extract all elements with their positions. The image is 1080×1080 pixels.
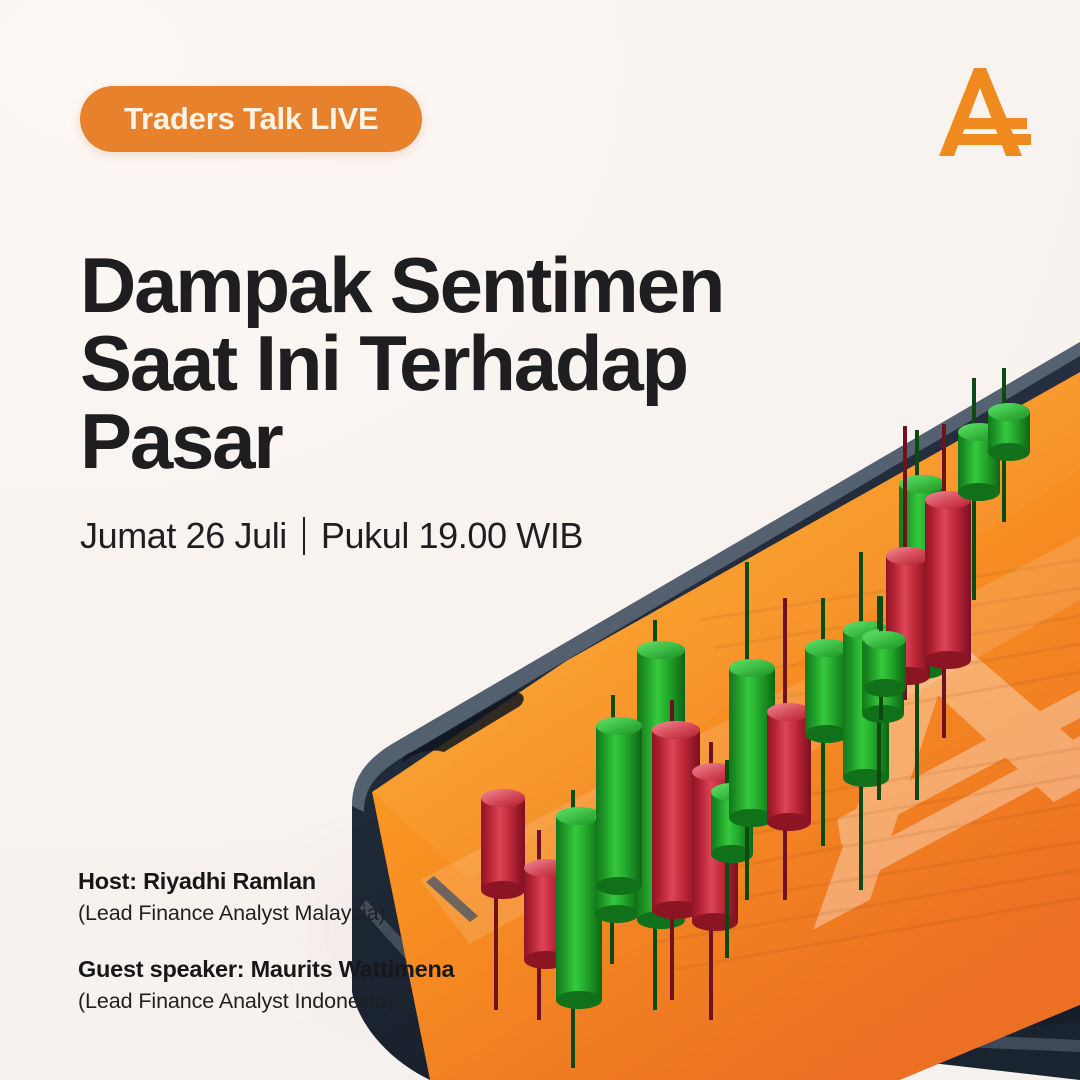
candle-5 <box>637 620 685 1010</box>
candle-12 <box>805 598 849 846</box>
schedule-time: Pukul 19.00 WIB <box>321 515 583 557</box>
candle-15 <box>899 430 945 800</box>
candle-17 <box>925 424 971 738</box>
headline-line-1: Dampak Sentimen <box>80 246 820 324</box>
headline-line-2: Saat Ini Terhadap <box>80 324 820 402</box>
candle-13 <box>843 552 889 890</box>
candle-1 <box>481 789 525 1010</box>
headline-line-3: Pasar <box>80 402 820 480</box>
candle-18 <box>864 596 906 720</box>
candle-8 <box>692 742 738 1020</box>
candle-9 <box>711 760 753 958</box>
candle-2 <box>524 830 568 1020</box>
candle-4 <box>595 788 639 964</box>
page-title: Dampak Sentimen Saat Ini Terhadap Pasar <box>80 246 820 480</box>
host-name: Host: Riyadhi Ramlan <box>78 866 454 897</box>
live-badge[interactable]: Traders Talk LIVE <box>80 86 422 152</box>
schedule-line: Jumat 26 Juli Pukul 19.00 WIB <box>80 515 583 557</box>
candle-6 <box>596 695 642 895</box>
letter-a-currency-logo-icon <box>936 62 1034 162</box>
poster-canvas: Traders Talk LIVE Dampak Sentimen Saat I… <box>0 0 1080 1080</box>
candle-16 <box>886 426 930 700</box>
candle-14 <box>862 596 904 800</box>
schedule-separator <box>303 517 305 555</box>
credits-block: Host: Riyadhi Ramlan (Lead Finance Analy… <box>78 866 454 1042</box>
candle-20 <box>988 368 1030 522</box>
candle-10 <box>729 562 775 900</box>
guest-name: Guest speaker: Maurits Wattimena <box>78 954 454 985</box>
candle-19 <box>958 378 1000 600</box>
guest-credit: Guest speaker: Maurits Wattimena (Lead F… <box>78 954 454 1016</box>
live-badge-label: Traders Talk LIVE <box>124 101 378 137</box>
host-credit: Host: Riyadhi Ramlan (Lead Finance Analy… <box>78 866 454 928</box>
candle-11 <box>767 598 811 900</box>
schedule-date: Jumat 26 Juli <box>80 515 287 557</box>
candle-3 <box>556 790 602 1068</box>
guest-role: (Lead Finance Analyst Indonesia) <box>78 987 454 1016</box>
candle-7 <box>652 700 700 1000</box>
host-role: (Lead Finance Analyst Malaysia) <box>78 899 454 928</box>
